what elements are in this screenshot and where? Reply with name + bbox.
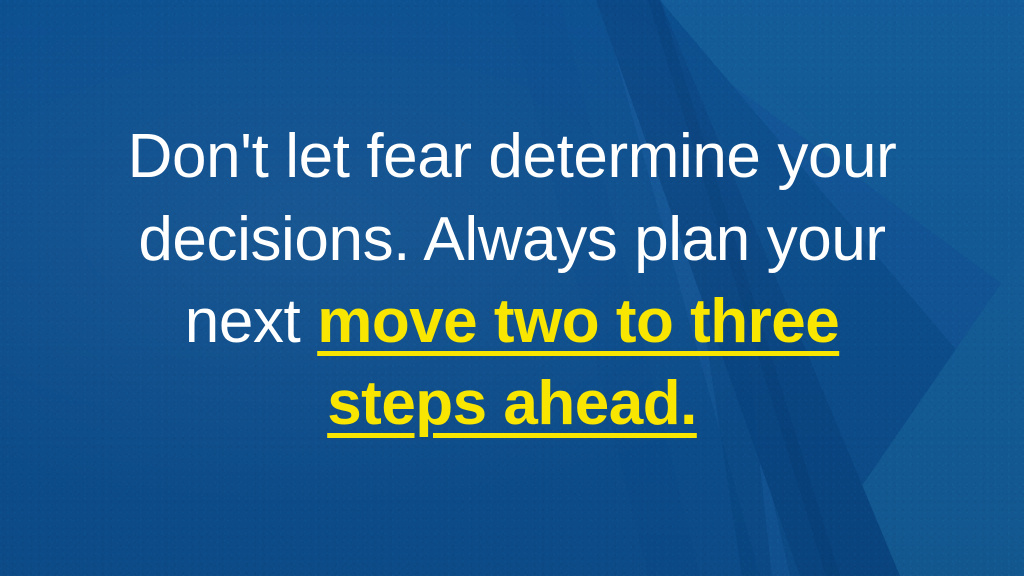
quote-slide: Don't let fear determine your decisions.… xyxy=(0,0,1024,576)
quote-container: Don't let fear determine your decisions.… xyxy=(0,0,1024,576)
quote-emphasis-text: move two to three steps ahead. xyxy=(317,287,839,438)
quote-text: Don't let fear determine your decisions.… xyxy=(102,116,922,446)
